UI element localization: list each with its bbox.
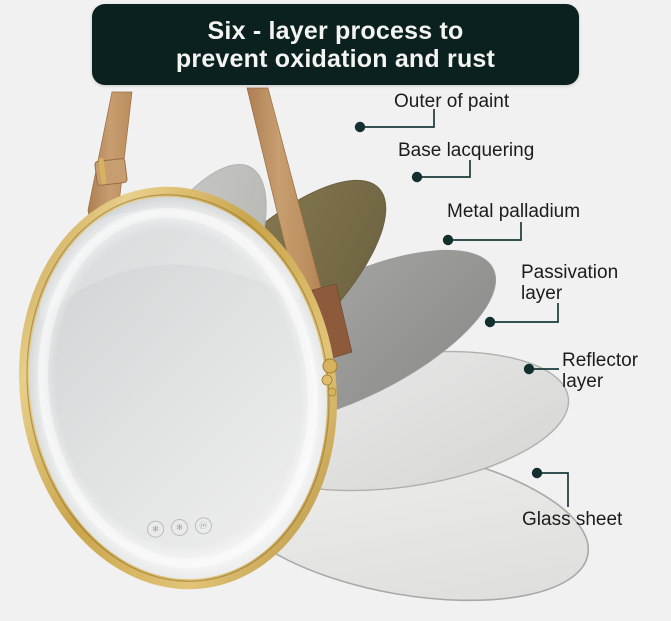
label-reflector-layer: Reflector layer	[562, 350, 638, 393]
leader-outer-of-paint	[355, 109, 434, 132]
leader-glass-sheet	[532, 468, 568, 507]
banner-line-2: prevent oxidation and rust	[176, 46, 495, 72]
banner-line-1: Six - layer process to	[208, 18, 464, 44]
label-metal-palladium: Metal palladium	[447, 201, 580, 222]
leader-base-lacquering	[412, 160, 470, 182]
leader-passivation-layer	[485, 303, 558, 327]
label-passivation-layer: Passivation layer	[521, 262, 618, 305]
leader-reflector-layer	[524, 364, 559, 374]
label-outer-of-paint: Outer of paint	[394, 91, 509, 112]
infographic-canvas: ✻ ✻ ⓜ	[0, 0, 671, 621]
label-base-lacquering: Base lacquering	[398, 140, 534, 161]
leader-metal-palladium	[443, 222, 521, 245]
title-banner: Six - layer process to prevent oxidation…	[92, 4, 579, 85]
label-glass-sheet: Glass sheet	[522, 509, 622, 530]
